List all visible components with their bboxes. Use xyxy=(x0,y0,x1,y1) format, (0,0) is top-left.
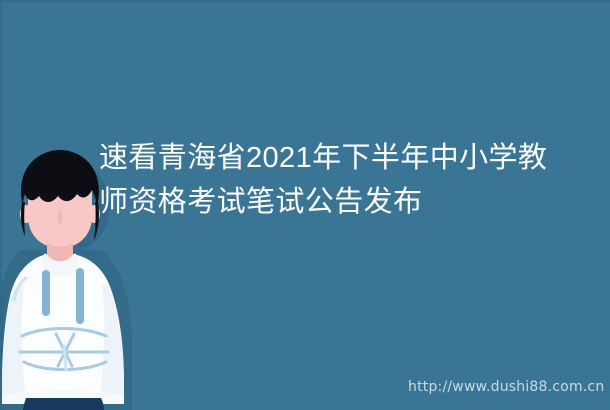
pants-group xyxy=(23,398,104,410)
drawstring-right xyxy=(76,268,84,324)
top-edge-line xyxy=(0,0,610,2)
headline-title: 速看青海省2021年下半年中小学教师资格考试笔试公告发布 xyxy=(99,136,549,224)
pocket-fold-c xyxy=(64,346,66,370)
drawstring-left xyxy=(42,270,50,316)
watermark-url: http://www.dushi88.com.cn xyxy=(408,379,604,395)
pants xyxy=(23,398,104,410)
news-banner: 速看青海省2021年下半年中小学教师资格考试笔试公告发布 http://www.… xyxy=(0,0,610,410)
